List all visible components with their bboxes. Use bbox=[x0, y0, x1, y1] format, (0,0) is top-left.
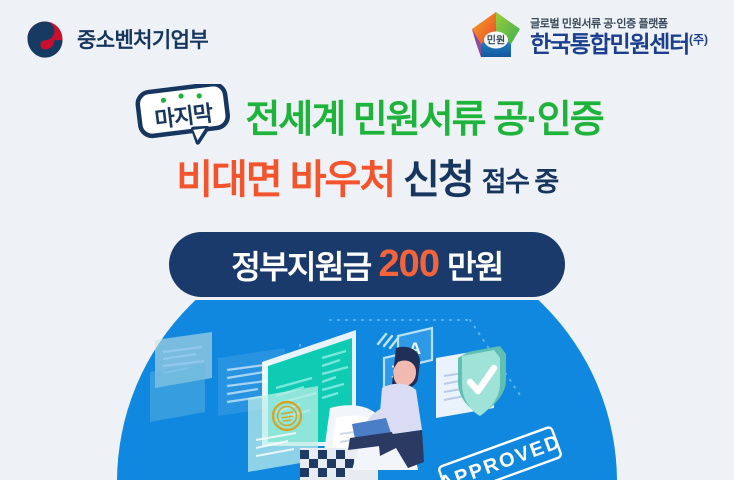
last-chance-badge: 마지막 bbox=[131, 84, 235, 146]
corporate-name-suffix: (주) bbox=[689, 32, 708, 46]
headline-line-2: 비대면 바우처 신청 접수 중 bbox=[0, 148, 734, 204]
headline-orange-text: 비대면 바우처 bbox=[176, 147, 394, 205]
corporate-name-main: 한국통합민원센터 bbox=[530, 31, 689, 57]
headline-green-text: 전세계 민원서류 공·인증 bbox=[245, 88, 602, 143]
headline-area: 마지막 전세계 민원서류 공·인증 비대면 바우처 신청 접수 중 bbox=[0, 82, 734, 204]
headline-navy-large-text: 신청 bbox=[403, 147, 473, 205]
illustration-scene: A 文 bbox=[0, 300, 734, 480]
headline-navy-small-text: 접수 중 bbox=[482, 154, 558, 199]
pentagon-logo-icon: 민원 bbox=[470, 10, 522, 60]
subsidy-pill-badge: 정부지원금 200 만원 bbox=[169, 232, 565, 297]
corporate-logo-block: 민원 글로벌 민원서류 공·인증 플랫폼 한국통합민원센터(주) bbox=[470, 10, 708, 60]
subsidy-unit-label: 만원 bbox=[447, 242, 503, 288]
subsidy-prefix-label: 정부지원금 bbox=[231, 242, 370, 288]
subsidy-amount-label: 200 bbox=[379, 243, 439, 286]
hero-illustration: A 文 bbox=[0, 300, 734, 480]
promotional-banner: 중소벤처기업부 bbox=[0, 0, 734, 480]
pentagon-inner-label: 민원 bbox=[487, 34, 505, 47]
corporate-tagline: 글로벌 민원서류 공·인증 플랫폼 bbox=[530, 15, 708, 31]
headline-line-1: 마지막 전세계 민원서류 공·인증 bbox=[0, 82, 734, 148]
government-logo-block: 중소벤처기업부 bbox=[22, 16, 208, 62]
corporate-name: 한국통합민원센터(주) bbox=[530, 33, 708, 56]
banner-header: 중소벤처기업부 bbox=[0, 0, 734, 78]
taegeuk-icon bbox=[22, 16, 68, 62]
government-name: 중소벤처기업부 bbox=[77, 24, 208, 54]
subsidy-pill-row: 정부지원금 200 만원 bbox=[0, 232, 734, 297]
